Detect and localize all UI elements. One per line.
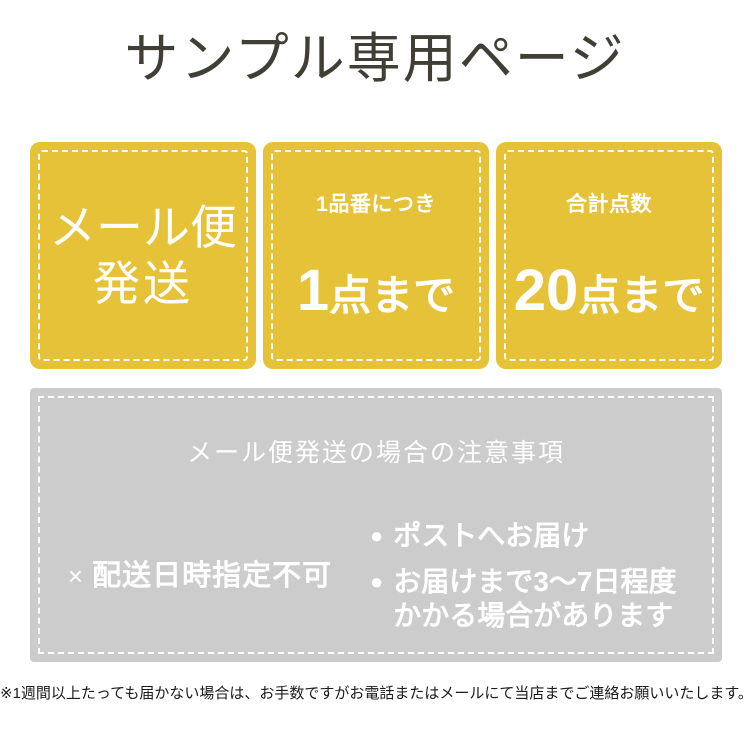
card-per-item-limit-number: 1 [297, 258, 329, 323]
notice-heading: メール便発送の場合の注意事項 [30, 437, 722, 469]
list-item-label: ポストへお届け [393, 519, 589, 553]
list-item: ● お届けまで3〜7日程度 かかる場合があります [370, 565, 722, 633]
card-total-limit-content: 合計点数 20点まで [496, 192, 722, 320]
card-per-item-limit-value: 1点まで [263, 262, 489, 320]
card-mail-shipping: メール便 発送 [30, 142, 256, 369]
card-mail-shipping-content: メール便 発送 [30, 200, 256, 312]
notice-bullet-list: ● ポストへお届け ● お届けまで3〜7日程度 かかる場合があります [370, 519, 722, 633]
card-per-item-limit-unit: 点まで [329, 272, 455, 319]
notice-panel: メール便発送の場合の注意事項 ×配送日時指定不可 ● ポストへお届け ● お届け… [30, 388, 722, 662]
page-title: サンプル専用ページ [0, 27, 750, 91]
bullet-dot-icon: ● [370, 565, 383, 599]
card-per-item-limit-content: 1品番につき 1点まで [263, 192, 489, 320]
card-mail-shipping-line2: 発送 [30, 256, 256, 312]
notice-body: ×配送日時指定不可 ● ポストへお届け ● お届けまで3〜7日程度 かかる場合が… [30, 506, 722, 646]
card-total-limit-value: 20点まで [496, 262, 722, 320]
list-item: ● ポストへお届け [370, 519, 722, 553]
list-item-label: お届けまで3〜7日程度 かかる場合があります [393, 565, 676, 633]
notice-no-date-designation-label: 配送日時指定不可 [92, 560, 332, 592]
card-per-item-limit: 1品番につき 1点まで [263, 142, 489, 369]
card-per-item-limit-caption: 1品番につき [263, 192, 489, 218]
notice-no-date-designation: ×配送日時指定不可 [30, 557, 370, 595]
feature-cards-row: メール便 発送 1品番につき 1点まで 合計点数 20点まで [30, 142, 722, 369]
card-total-limit: 合計点数 20点まで [496, 142, 722, 369]
cross-mark-icon: × [68, 561, 84, 591]
bullet-dot-icon: ● [370, 519, 383, 553]
card-total-limit-caption: 合計点数 [496, 192, 722, 218]
card-mail-shipping-line1: メール便 [30, 200, 256, 256]
footnote-text: ※1週間以上たっても届かない場合は、お手数ですがお電話またはメールにて当店までご… [0, 683, 750, 705]
card-total-limit-unit: 点まで [578, 272, 704, 319]
card-total-limit-number: 20 [514, 258, 579, 323]
